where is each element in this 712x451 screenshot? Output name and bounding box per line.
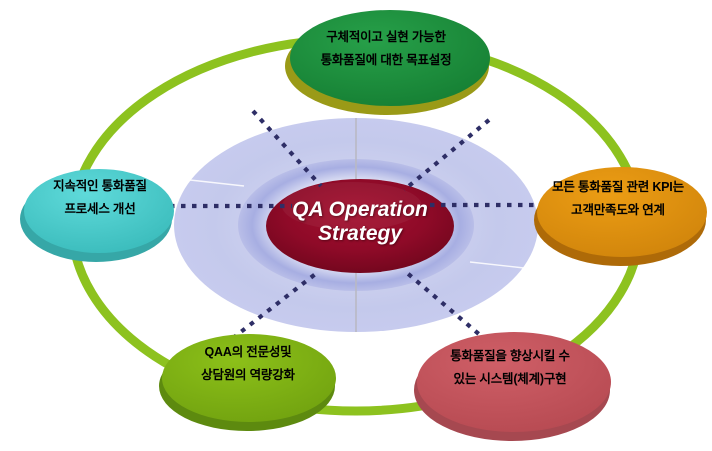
- diagram-canvas: 구체적이고 실현 가능한 통화품질에 대한 목표설정 지속적인 통화품질 프로세…: [0, 0, 712, 451]
- node-goal-setting-face: [290, 10, 490, 106]
- node-kpi-linkage[interactable]: [534, 167, 707, 266]
- core-ellipse-sheen: [282, 182, 422, 230]
- node-process-improvement[interactable]: [20, 169, 174, 262]
- node-kpi-linkage-face: [537, 167, 707, 257]
- node-process-improvement-face: [24, 169, 174, 253]
- node-system-implementation-face: [417, 332, 611, 432]
- diagram-graphics: [0, 0, 712, 451]
- node-capability-building-face: [162, 334, 336, 422]
- node-system-implementation[interactable]: [414, 332, 611, 441]
- node-goal-setting[interactable]: [285, 10, 490, 115]
- node-capability-building[interactable]: [159, 334, 336, 431]
